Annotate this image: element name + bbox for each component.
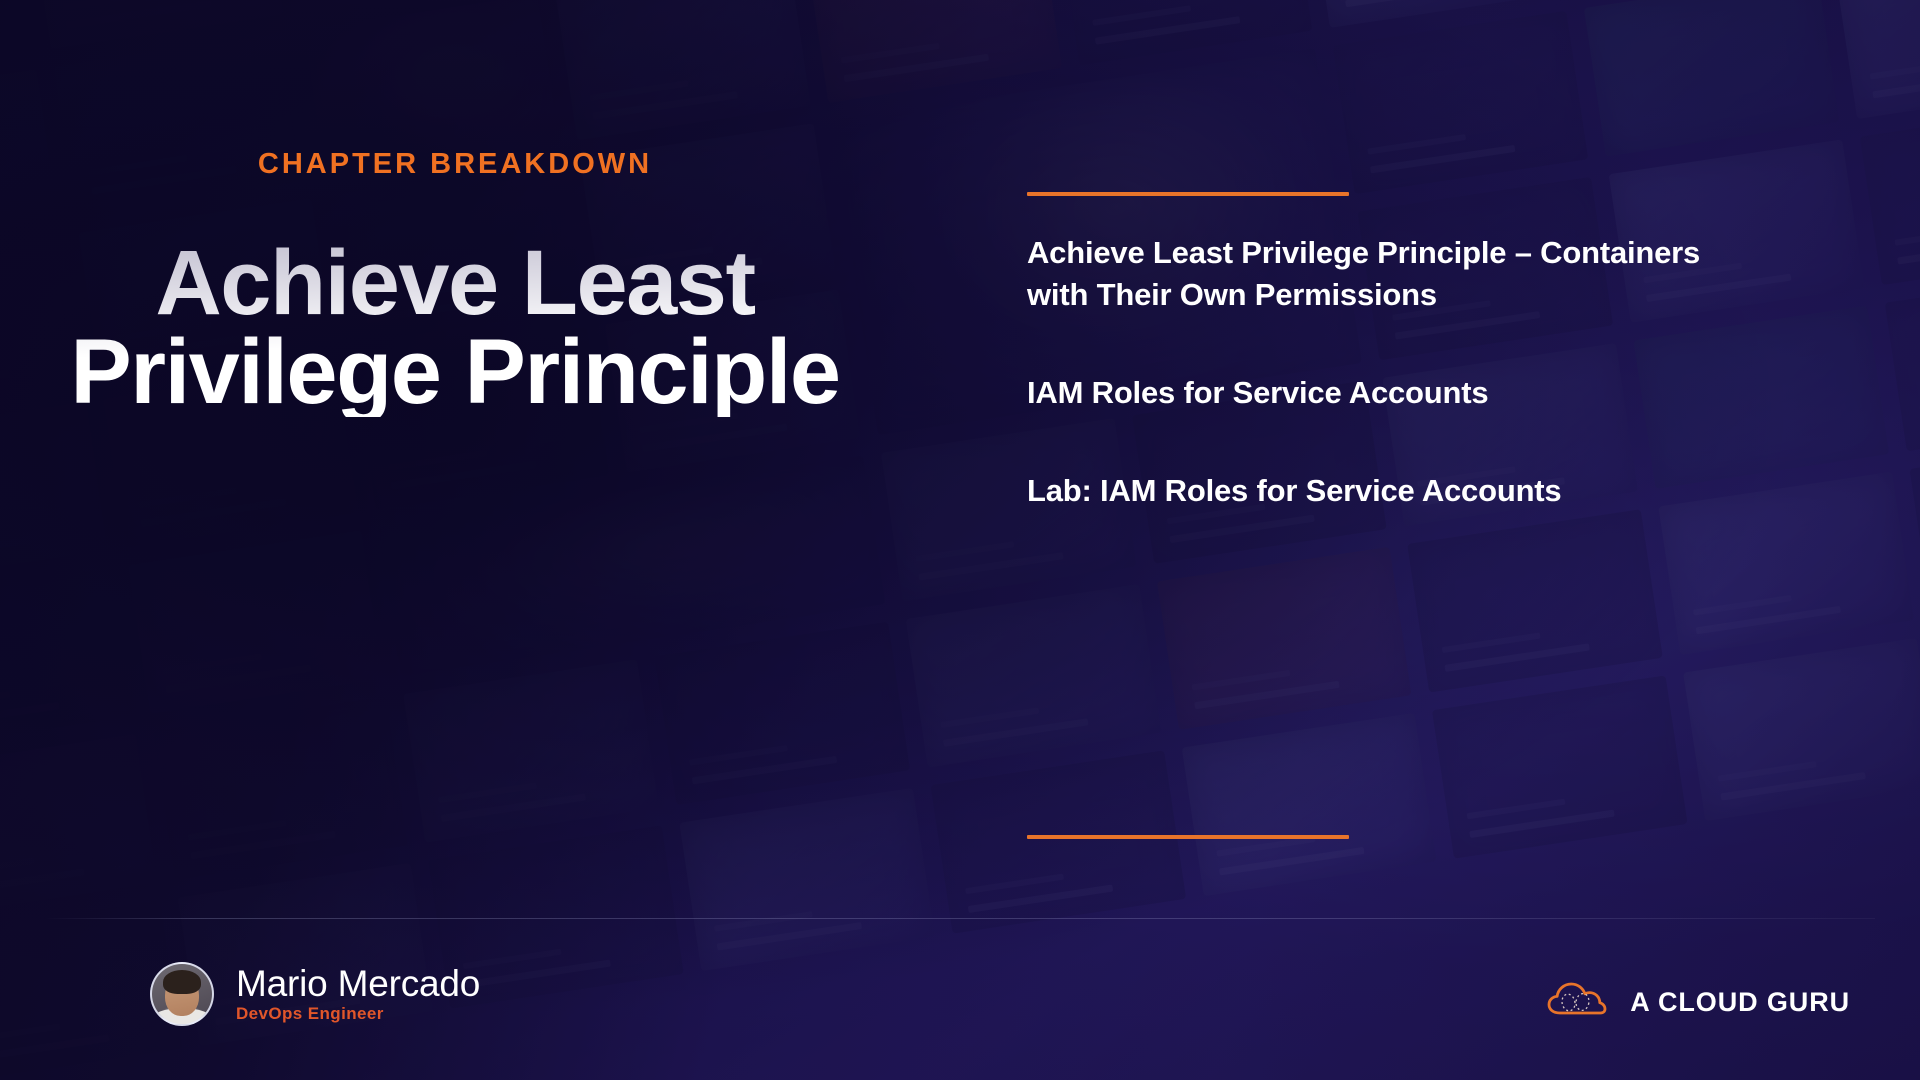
agenda-block: Achieve Least Privilege Principle – Cont…	[1027, 192, 1727, 839]
presenter-block: Mario Mercado DevOps Engineer	[150, 962, 480, 1026]
title-line-1: Achieve Least	[18, 239, 892, 328]
presenter-name: Mario Mercado	[236, 964, 480, 1003]
list-item: IAM Roles for Service Accounts	[1027, 372, 1707, 414]
presenter-text: Mario Mercado DevOps Engineer	[236, 964, 480, 1024]
list-item: Lab: IAM Roles for Service Accounts	[1027, 470, 1707, 512]
avatar	[150, 962, 214, 1026]
page-title: Achieve Least Privilege Principle	[0, 239, 910, 417]
list-item: Achieve Least Privilege Principle – Cont…	[1027, 232, 1707, 316]
brand-block: A CLOUD GURU	[1546, 980, 1850, 1025]
slide-content: CHAPTER BREAKDOWN Achieve Least Privileg…	[0, 0, 1920, 1080]
cloud-logo-icon	[1546, 980, 1608, 1025]
agenda-list: Achieve Least Privilege Principle – Cont…	[1027, 196, 1727, 511]
agenda-rule-bottom	[1027, 835, 1349, 839]
eyebrow-label: CHAPTER BREAKDOWN	[0, 150, 910, 179]
slide-root: CHAPTER BREAKDOWN Achieve Least Privileg…	[0, 0, 1920, 1080]
title-line-2: Privilege Principle	[18, 328, 892, 417]
brand-name: A CLOUD GURU	[1630, 987, 1850, 1018]
presenter-role: DevOps Engineer	[236, 1004, 480, 1024]
title-block: CHAPTER BREAKDOWN Achieve Least Privileg…	[0, 150, 910, 417]
agenda-spacer	[1027, 511, 1727, 835]
footer-separator	[45, 918, 1875, 919]
